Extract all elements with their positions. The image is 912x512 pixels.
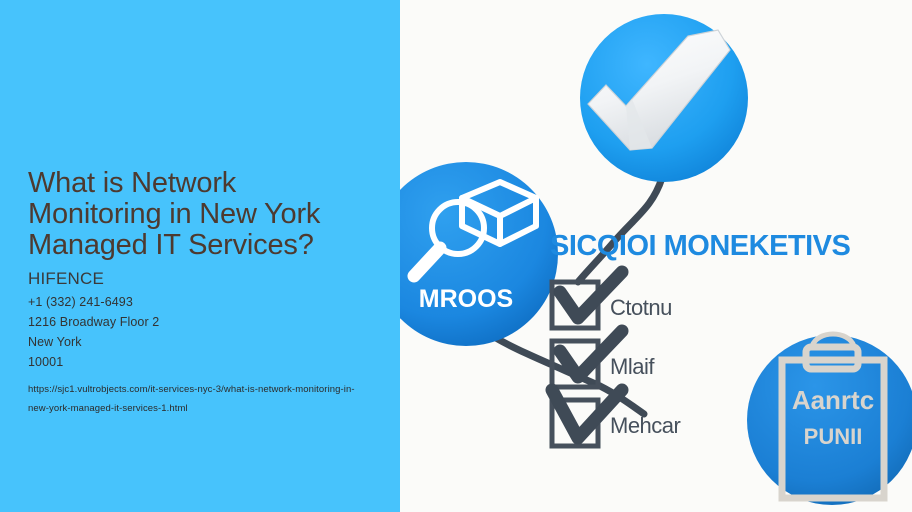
page-title: What is Network Monitoring in New York M… [28,168,378,261]
checklist-label-0: Ctotnu [610,295,672,320]
illustration-panel: MROOS SICQIOI MONEKETIVS Ctotnu Mlaif [400,0,912,512]
check-badge[interactable] [580,14,748,182]
brand-name: HIFENCE [28,269,378,289]
diagram-heading: SICQIOI MONEKETIVS [550,230,851,262]
diagram-illustration: MROOS SICQIOI MONEKETIVS Ctotnu Mlaif [400,0,912,512]
checklist-label-1: Mlaif [610,354,655,379]
phone-number: +1 (332) 241-6493 [28,292,378,312]
left-info-panel: What is Network Monitoring in New York M… [0,0,400,512]
text-block: What is Network Monitoring in New York M… [28,168,378,418]
source-url[interactable]: https://sjc1.vultrobjects.com/it-service… [28,380,358,418]
magnifier-badge-label: MROOS [419,285,513,313]
clipboard-text-line2: PUNII [804,424,863,449]
address-city: New York [28,332,378,352]
screenshot-root: What is Network Monitoring in New York M… [0,0,912,512]
address-street: 1216 Broadway Floor 2 [28,312,378,332]
clipboard-text-line1: Aanrtc [792,385,874,415]
checklist-label-2: Mehcar [610,413,681,438]
address-zip: 10001 [28,352,378,372]
